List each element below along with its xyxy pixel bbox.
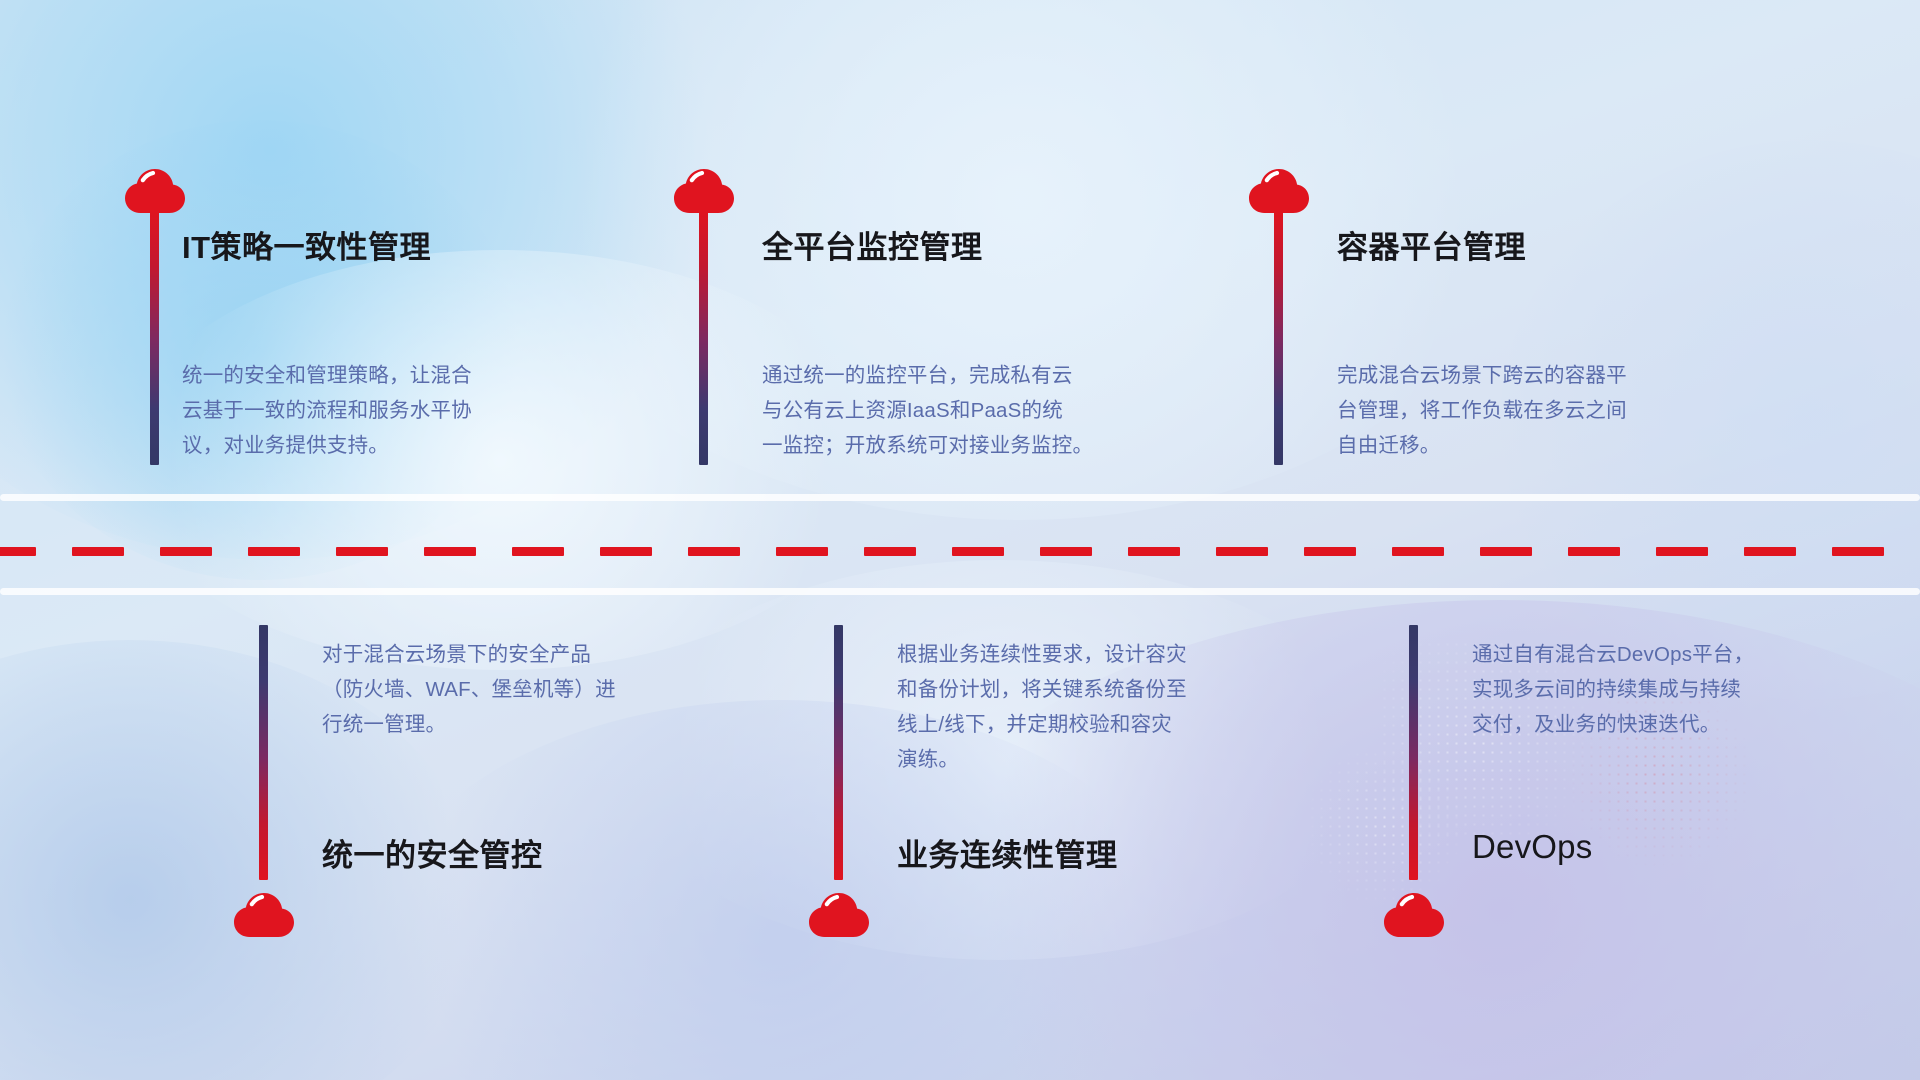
body-line: 演练。 xyxy=(897,742,1317,777)
cloud-icon xyxy=(1248,164,1310,214)
body-line: 议，对业务提供支持。 xyxy=(182,428,602,463)
divider-dash xyxy=(1656,547,1708,556)
body-line: 对于混合云场景下的安全产品 xyxy=(322,637,742,672)
top-item-1-heading: IT策略一致性管理 xyxy=(182,222,431,267)
top-item-2-heading: 全平台监控管理 xyxy=(762,222,983,267)
body-line: 和备份计划，将关键系统备份至 xyxy=(897,672,1317,707)
divider-dash xyxy=(0,547,36,556)
divider-dashed-line xyxy=(0,547,1920,556)
divider-rail-bottom xyxy=(0,588,1920,595)
connector-stem xyxy=(834,625,843,880)
connector-stem xyxy=(259,625,268,880)
divider-dash xyxy=(1744,547,1796,556)
divider-dash xyxy=(160,547,212,556)
body-line: 台管理，将工作负载在多云之间 xyxy=(1337,393,1757,428)
divider-dash xyxy=(776,547,828,556)
divider-rail-top xyxy=(0,494,1920,501)
divider-dash xyxy=(1832,547,1884,556)
divider-dash xyxy=(72,547,124,556)
divider-dash xyxy=(1568,547,1620,556)
body-line: 通过自有混合云DevOps平台， xyxy=(1472,637,1892,672)
body-line: 与公有云上资源IaaS和PaaS的统 xyxy=(762,393,1202,428)
divider-dash xyxy=(952,547,1004,556)
divider-dash xyxy=(512,547,564,556)
cloud-icon xyxy=(808,888,870,938)
body-line: 一监控；开放系统可对接业务监控。 xyxy=(762,428,1202,463)
connector-stem xyxy=(150,210,159,465)
top-item-2-body: 通过统一的监控平台，完成私有云 与公有云上资源IaaS和PaaS的统 一监控；开… xyxy=(762,358,1202,463)
divider-dash xyxy=(424,547,476,556)
divider-dash xyxy=(864,547,916,556)
cloud-icon xyxy=(673,164,735,214)
top-item-3-heading: 容器平台管理 xyxy=(1337,222,1526,267)
divider-dash xyxy=(1392,547,1444,556)
bottom-item-2-heading: 业务连续性管理 xyxy=(897,830,1118,875)
body-line: 行统一管理。 xyxy=(322,707,742,742)
divider-dash xyxy=(1216,547,1268,556)
connector-stem xyxy=(1409,625,1418,880)
cloud-icon xyxy=(124,164,186,214)
bottom-item-3-heading: DevOps xyxy=(1472,828,1592,866)
infographic-canvas: IT策略一致性管理 统一的安全和管理策略，让混合 云基于一致的流程和服务水平协 … xyxy=(0,0,1920,1080)
divider-dash xyxy=(248,547,300,556)
body-line: 根据业务连续性要求，设计容灾 xyxy=(897,637,1317,672)
top-item-1-body: 统一的安全和管理策略，让混合 云基于一致的流程和服务水平协 议，对业务提供支持。 xyxy=(182,358,602,463)
body-line: 交付，及业务的快速迭代。 xyxy=(1472,707,1892,742)
body-line: 统一的安全和管理策略，让混合 xyxy=(182,358,602,393)
divider-dash xyxy=(600,547,652,556)
body-line: 线上/线下，并定期校验和容灾 xyxy=(897,707,1317,742)
bottom-item-1-body: 对于混合云场景下的安全产品 （防火墙、WAF、堡垒机等）进 行统一管理。 xyxy=(322,637,742,742)
top-item-3-body: 完成混合云场景下跨云的容器平 台管理，将工作负载在多云之间 自由迁移。 xyxy=(1337,358,1757,463)
body-line: 完成混合云场景下跨云的容器平 xyxy=(1337,358,1757,393)
connector-stem xyxy=(1274,210,1283,465)
divider-dash xyxy=(1480,547,1532,556)
divider-dash xyxy=(1040,547,1092,556)
body-line: 通过统一的监控平台，完成私有云 xyxy=(762,358,1202,393)
bottom-item-1-heading: 统一的安全管控 xyxy=(322,830,543,875)
bottom-item-3-body: 通过自有混合云DevOps平台， 实现多云间的持续集成与持续 交付，及业务的快速… xyxy=(1472,637,1892,742)
divider-dash xyxy=(1304,547,1356,556)
divider-dash xyxy=(336,547,388,556)
body-line: 实现多云间的持续集成与持续 xyxy=(1472,672,1892,707)
cloud-icon xyxy=(1383,888,1445,938)
body-line: 云基于一致的流程和服务水平协 xyxy=(182,393,602,428)
body-line: 自由迁移。 xyxy=(1337,428,1757,463)
divider-dash xyxy=(1128,547,1180,556)
cloud-icon xyxy=(233,888,295,938)
body-line: （防火墙、WAF、堡垒机等）进 xyxy=(322,672,742,707)
divider-dash xyxy=(688,547,740,556)
connector-stem xyxy=(699,210,708,465)
bottom-item-2-body: 根据业务连续性要求，设计容灾 和备份计划，将关键系统备份至 线上/线下，并定期校… xyxy=(897,637,1317,777)
